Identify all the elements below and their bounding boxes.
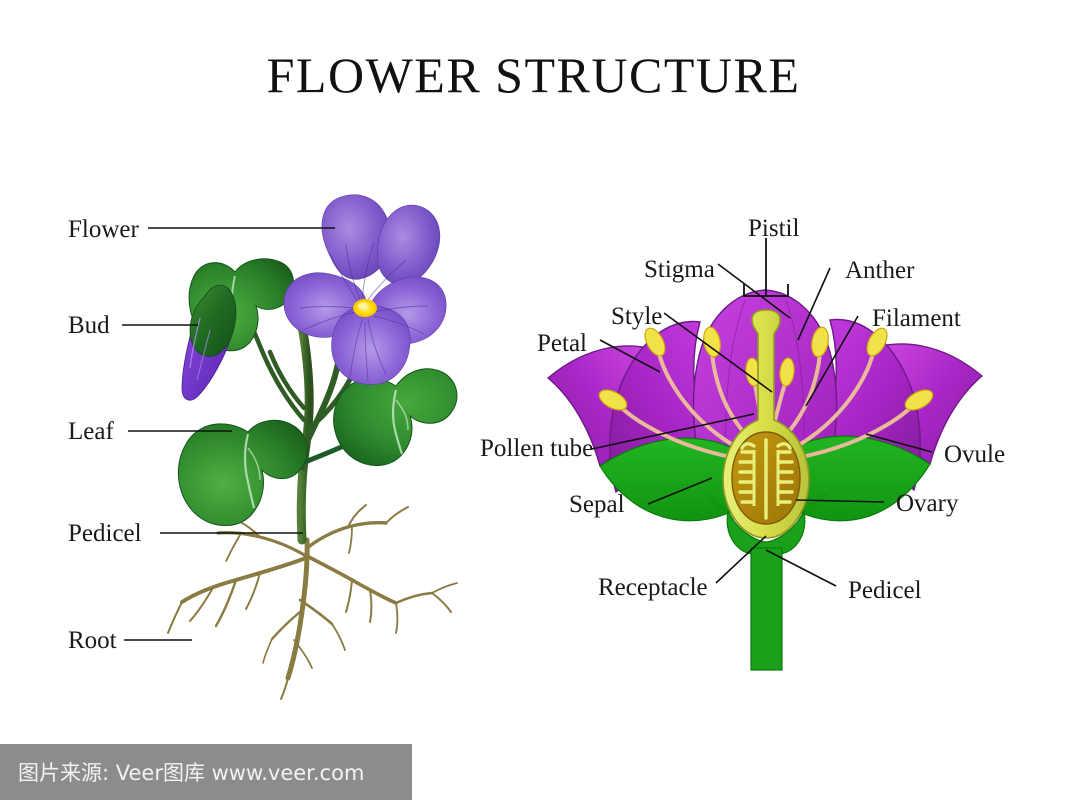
watermark-text: 图片来源: Veer图库 www.veer.com (0, 757, 364, 787)
pedicel-stem (751, 548, 782, 670)
root-system (168, 505, 457, 699)
flower-structure-infographic: FLOWER STRUCTURE (0, 0, 1067, 800)
label-leaf: Leaf (68, 419, 114, 444)
label-pedicel-right: Pedicel (848, 578, 922, 603)
label-flower: Flower (68, 217, 139, 242)
watermark-bar: 图片来源: Veer图库 www.veer.com (0, 744, 412, 800)
pistil-bracket (744, 238, 788, 296)
label-stigma: Stigma (644, 257, 715, 282)
leaf-lower-right (334, 369, 457, 466)
label-petal: Petal (537, 331, 587, 356)
label-filament: Filament (872, 306, 961, 331)
label-anther: Anther (845, 258, 914, 283)
label-sepal: Sepal (569, 492, 625, 517)
label-ovary: Ovary (896, 491, 958, 516)
whole-plant-illustration (0, 0, 1067, 800)
label-receptacle: Receptacle (598, 575, 708, 600)
label-pistil: Pistil (748, 216, 799, 241)
label-style: Style (611, 304, 662, 329)
label-bud: Bud (68, 313, 110, 338)
label-pollen-tube: Pollen tube (480, 436, 593, 461)
label-ovule: Ovule (944, 442, 1005, 467)
label-pedicel: Pedicel (68, 521, 142, 546)
label-root: Root (68, 628, 117, 653)
leaf-lower-left (178, 420, 307, 525)
